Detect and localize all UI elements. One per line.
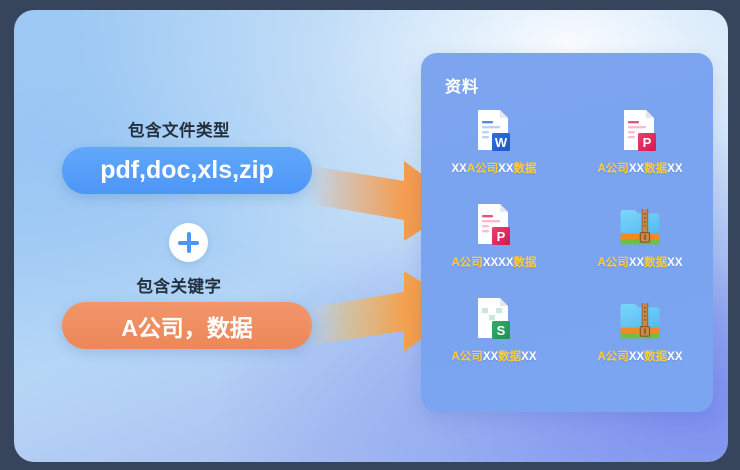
label-text: XX xyxy=(629,163,644,175)
result-file-label: A公司XX数据XX xyxy=(598,254,683,270)
matched-keyword: 数据 xyxy=(644,257,667,269)
result-file-label: A公司XX数据XX xyxy=(598,348,683,364)
keyword-value-pill[interactable]: A公司，数据 xyxy=(62,302,312,349)
result-file-label: XXA公司XX数据 xyxy=(452,160,537,176)
label-text: XX xyxy=(483,351,498,363)
label-text: XX xyxy=(629,351,644,363)
plus-icon-vertical-bar xyxy=(187,232,191,253)
matched-keyword: A公司 xyxy=(598,257,629,269)
matched-keyword: A公司 xyxy=(598,351,629,363)
screenshot-root: 包含文件类型 pdf,doc,xls,zip 包含关键字 A公司，数据 xyxy=(0,0,740,470)
svg-text:S: S xyxy=(497,323,506,338)
matched-keyword: A公司 xyxy=(598,163,629,175)
excel-spreadsheet-icon: S xyxy=(474,297,514,343)
result-file-item[interactable]: PA公司XX数据XX xyxy=(567,105,713,199)
keyword-caption: 包含关键字 xyxy=(14,273,344,297)
label-text: XX xyxy=(521,351,536,363)
filetype-value-pill[interactable]: pdf,doc,xls,zip xyxy=(62,147,312,194)
result-file-item[interactable]: WXXA公司XX数据 xyxy=(421,105,567,199)
matched-keyword: 数据 xyxy=(644,351,667,363)
word-document-icon: W xyxy=(474,109,514,155)
results-panel-title: 资料 xyxy=(445,73,479,97)
label-text: XX xyxy=(667,351,682,363)
label-text: XX xyxy=(667,163,682,175)
matched-keyword: 数据 xyxy=(514,257,537,269)
matched-keyword: 数据 xyxy=(644,163,667,175)
matched-keyword: A公司 xyxy=(452,257,483,269)
filetype-caption: 包含文件类型 xyxy=(14,117,344,141)
zip-archive-icon xyxy=(620,297,660,343)
results-file-grid: WXXA公司XX数据 PA公司XX数据XX PA公司XXXX数据 A公司XX数据… xyxy=(421,105,713,387)
result-file-label: A公司XX数据XX xyxy=(598,160,683,176)
result-file-item[interactable]: A公司XX数据XX xyxy=(567,293,713,387)
svg-text:P: P xyxy=(497,229,506,244)
matched-keyword: 数据 xyxy=(514,163,537,175)
label-text: XX xyxy=(498,163,513,175)
pdf-document-icon: P xyxy=(474,203,514,249)
result-file-item[interactable]: A公司XX数据XX xyxy=(567,199,713,293)
svg-text:W: W xyxy=(495,135,508,150)
result-file-label: A公司XXXX数据 xyxy=(452,254,537,270)
label-text: XX xyxy=(452,163,467,175)
svg-text:P: P xyxy=(643,135,652,150)
results-panel: 资料 WXXA公司XX数据 PA公司XX数据XX PA公司XXXX数据 xyxy=(421,53,713,412)
matched-keyword: A公司 xyxy=(452,351,483,363)
result-file-item[interactable]: SA公司XX数据XX xyxy=(421,293,567,387)
matched-keyword: 数据 xyxy=(498,351,521,363)
pdf-document-icon: P xyxy=(620,109,660,155)
result-file-label: A公司XX数据XX xyxy=(452,348,537,364)
search-criteria-column: 包含文件类型 pdf,doc,xls,zip 包含关键字 A公司，数据 xyxy=(14,10,344,462)
result-file-item[interactable]: PA公司XXXX数据 xyxy=(421,199,567,293)
label-text: XX xyxy=(629,257,644,269)
label-text: XXXX xyxy=(483,257,514,269)
label-text: XX xyxy=(667,257,682,269)
plus-icon xyxy=(169,223,208,262)
matched-keyword: A公司 xyxy=(467,163,498,175)
illustration-card: 包含文件类型 pdf,doc,xls,zip 包含关键字 A公司，数据 xyxy=(14,10,728,462)
zip-archive-icon xyxy=(620,203,660,249)
